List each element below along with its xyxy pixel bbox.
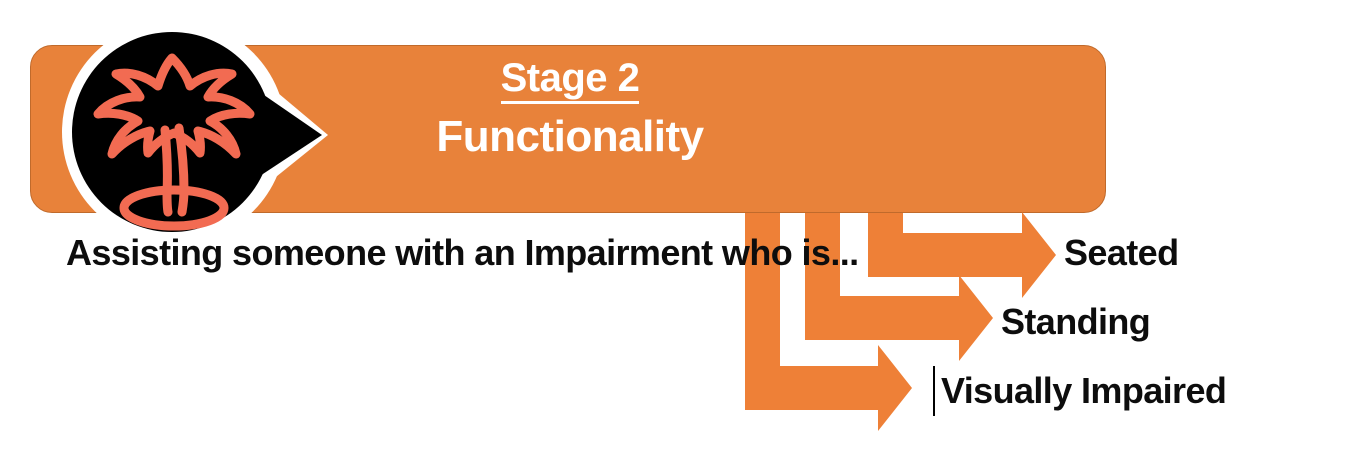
stage-label: Stage 2 [501, 58, 640, 104]
banner-text-block: Stage 2 Functionality [330, 58, 810, 159]
slide-canvas: Stage 2 Functionality [0, 0, 1351, 455]
banner-title: Functionality [330, 115, 810, 159]
branch-label-seated: Seated [1064, 232, 1178, 274]
branch-label-standing: Standing [1001, 301, 1150, 343]
text-caret [933, 366, 935, 416]
arrow-to-seated [868, 212, 1056, 298]
caption-text: Assisting someone with an Impairment who… [66, 232, 859, 274]
logo-badge [60, 18, 328, 246]
branch-label-visually-impaired: Visually Impaired [941, 370, 1226, 412]
stage-label-wrapper: Stage 2 [330, 58, 810, 104]
